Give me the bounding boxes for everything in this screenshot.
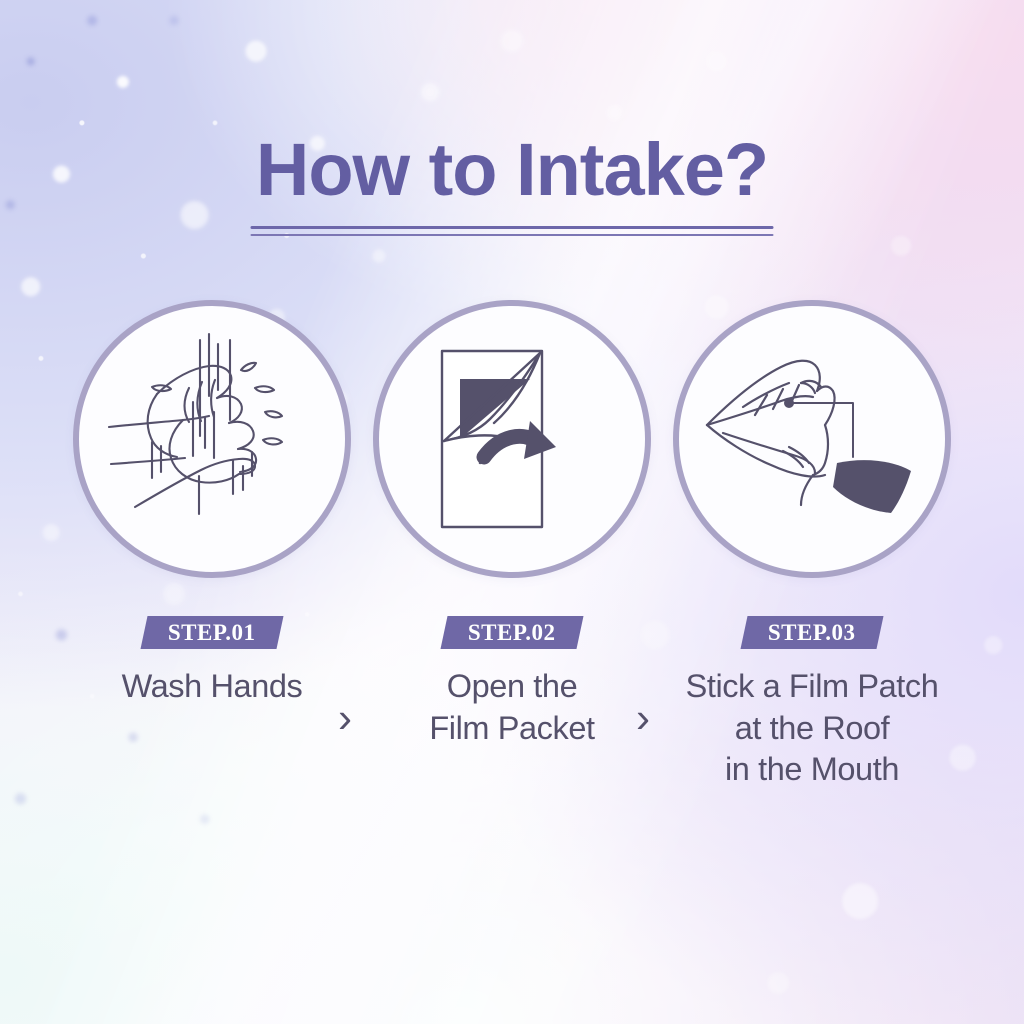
step-3-icon-circle xyxy=(673,300,951,578)
step-1-icon-circle xyxy=(73,300,351,578)
step-badge-label: STEP.01 xyxy=(168,620,256,646)
infographic-content: How to Intake? xyxy=(0,0,1024,1024)
step-separator-chevron-2: › xyxy=(636,697,650,739)
step-2-icon-circle xyxy=(373,300,651,578)
title-double-underline xyxy=(251,226,774,236)
step-badge-shape: STEP.01 xyxy=(140,616,283,649)
film-patch-in-mouth-icon xyxy=(697,339,927,539)
open-film-packet-icon xyxy=(412,339,612,539)
step-1-label: Wash Hands xyxy=(122,666,303,708)
step-separator-chevron-1: › xyxy=(338,697,352,739)
title-rule-thin xyxy=(251,234,774,236)
step-2-label: Open the Film Packet xyxy=(429,666,594,749)
washing-hands-icon xyxy=(97,324,327,554)
step-badge-label: STEP.03 xyxy=(768,620,856,646)
page-title: How to Intake? xyxy=(256,132,768,207)
step-3-label: Stick a Film Patch at the Roof in the Mo… xyxy=(686,666,939,791)
step-2-badge: STEP.02 xyxy=(444,616,580,650)
step-item-3[interactable]: STEP.03 Stick a Film Patch at the Roof i… xyxy=(662,300,962,791)
step-item-1[interactable]: STEP.01 Wash Hands xyxy=(62,300,362,708)
title-rule-thick xyxy=(251,226,774,229)
step-badge-shape: STEP.02 xyxy=(440,616,583,649)
step-item-2[interactable]: STEP.02 Open the Film Packet xyxy=(362,300,662,749)
title-block: How to Intake? xyxy=(0,132,1024,207)
step-3-badge: STEP.03 xyxy=(744,616,880,650)
step-1-badge: STEP.01 xyxy=(144,616,280,650)
step-badge-label: STEP.02 xyxy=(468,620,556,646)
step-badge-shape: STEP.03 xyxy=(740,616,883,649)
steps-row: STEP.01 Wash Hands xyxy=(0,300,1024,791)
